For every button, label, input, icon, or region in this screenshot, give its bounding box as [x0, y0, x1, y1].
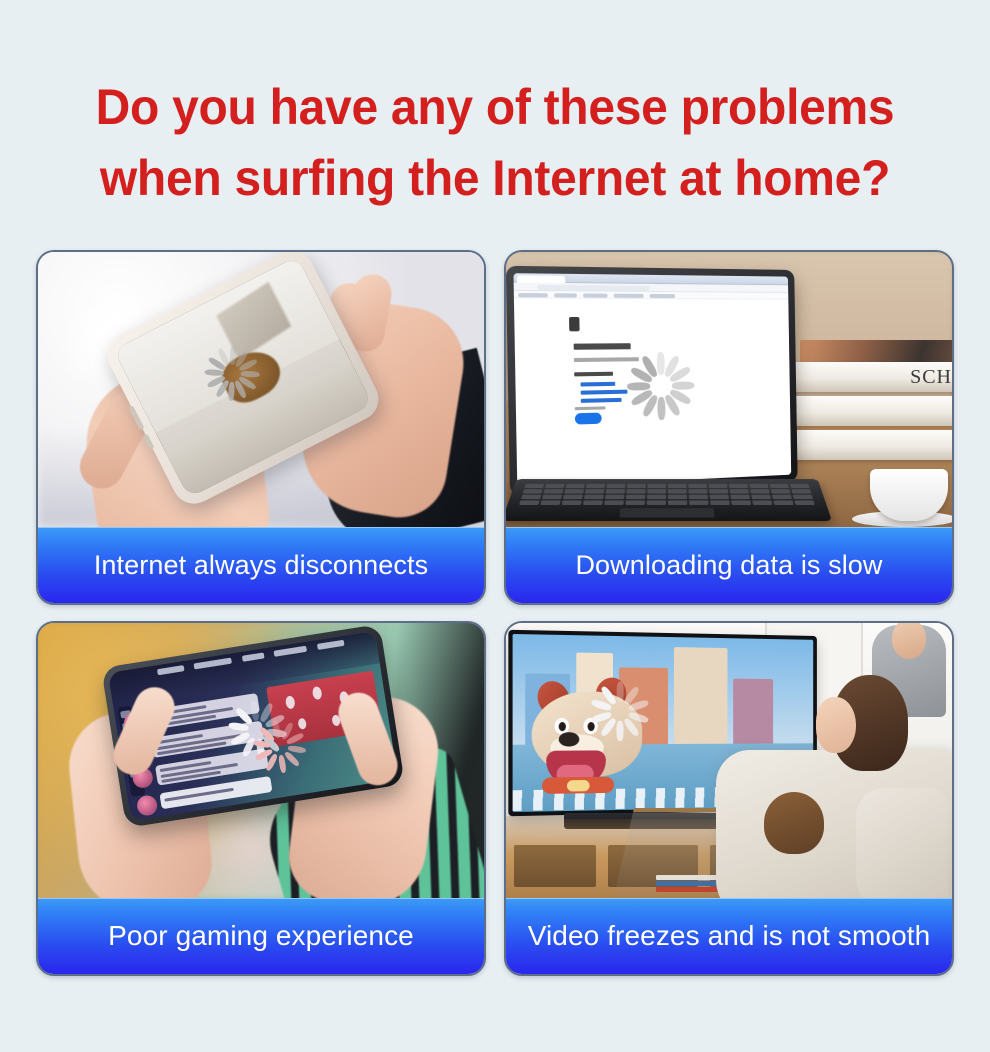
key [710, 495, 730, 499]
key [605, 495, 625, 499]
key [668, 484, 687, 488]
console-shelf [514, 845, 596, 887]
key [709, 489, 728, 493]
key [793, 495, 813, 499]
book-stack [656, 876, 722, 892]
page-link [581, 382, 616, 387]
bookmark-item [518, 292, 548, 296]
key [564, 489, 584, 493]
key [521, 495, 541, 499]
key [606, 489, 625, 493]
keyboard-keys [519, 484, 816, 506]
key [769, 484, 789, 488]
page-title: Do you have any of these problems when s… [20, 72, 970, 214]
card-caption-text: Internet always disconnects [94, 550, 428, 581]
hud-element [194, 658, 232, 670]
book [656, 875, 722, 880]
url-field [537, 284, 650, 290]
page-text-line [574, 372, 613, 377]
key [626, 495, 645, 499]
page-link [581, 398, 622, 403]
key [771, 489, 791, 493]
key [750, 489, 770, 493]
cartoon-building [733, 679, 773, 743]
key [794, 500, 815, 504]
tablet-screen [513, 273, 791, 488]
buffering-spinner-icon [625, 339, 697, 412]
key [585, 489, 604, 493]
key [791, 489, 811, 493]
woman-face [816, 697, 856, 753]
key [772, 495, 792, 499]
child-head [764, 792, 824, 854]
card-photo-living-room-tv [506, 623, 952, 898]
key [586, 484, 605, 488]
card-caption-bar[interactable]: Internet always disconnects [38, 527, 484, 603]
freeze-spinner-wrapper [589, 670, 652, 733]
key [730, 495, 750, 499]
problem-card-slow-download[interactable]: SCH [504, 250, 954, 605]
key [543, 489, 563, 493]
key [689, 500, 709, 504]
page-primary-button [575, 413, 602, 425]
bookmark-item [554, 293, 577, 297]
key [647, 489, 666, 493]
key [545, 484, 565, 488]
key [752, 500, 772, 504]
book [656, 881, 722, 886]
key [565, 484, 584, 488]
card-caption-text: Video freezes and is not smooth [528, 920, 931, 952]
hud-element [242, 652, 264, 661]
key [731, 500, 751, 504]
card-caption-text: Downloading data is slow [575, 550, 882, 581]
bookmark-item [614, 293, 644, 297]
key [647, 500, 666, 504]
hud-element [157, 665, 185, 675]
chat-input-placeholder [164, 788, 234, 802]
promo-page: Do you have any of these problems when s… [0, 0, 990, 1052]
key [668, 489, 687, 493]
browser-tab [517, 275, 566, 283]
chat-avatar [136, 794, 159, 817]
hud-element [317, 640, 345, 650]
key [647, 495, 666, 499]
card-caption-text: Poor gaming experience [108, 920, 414, 952]
key [790, 484, 810, 488]
game-marker [312, 686, 323, 700]
key [688, 489, 707, 493]
hud-element [274, 646, 307, 657]
page-content [514, 298, 791, 488]
page-heading-line [574, 343, 631, 350]
key [773, 500, 793, 504]
page-title-line-1: Do you have any of these problems [20, 72, 970, 143]
sofa-arm [856, 788, 948, 898]
key [583, 500, 603, 504]
key [751, 495, 771, 499]
site-logo [569, 317, 580, 331]
key [519, 500, 540, 504]
cartoon-building [674, 647, 727, 743]
problem-card-poor-gaming[interactable]: Poor gaming experience [36, 621, 486, 976]
key [627, 484, 646, 488]
key [688, 484, 707, 488]
key [668, 500, 687, 504]
buffering-spinner-icon [246, 706, 310, 770]
key [606, 484, 625, 488]
key [730, 489, 749, 493]
lag-spinner-secondary-wrapper [246, 706, 310, 770]
page-text-line [575, 406, 606, 410]
key [562, 500, 582, 504]
key [709, 484, 728, 488]
book-title-text: SCH [910, 366, 952, 389]
card-caption-bar[interactable]: Poor gaming experience [38, 898, 484, 974]
problem-card-grid: Internet always disconnects SCH [36, 250, 954, 976]
tablet [506, 266, 798, 496]
key [563, 495, 583, 499]
key [584, 495, 604, 499]
scene-tablet-on-desk: SCH [506, 252, 952, 527]
buffering-spinner-icon [589, 670, 652, 733]
key [749, 484, 768, 488]
card-caption-bar[interactable]: Video freezes and is not smooth [506, 898, 952, 974]
key [626, 489, 645, 493]
page-title-line-2: when surfing the Internet at home? [20, 143, 970, 214]
key [542, 495, 562, 499]
key [710, 500, 730, 504]
trackpad [619, 508, 714, 517]
key [729, 484, 748, 488]
scene-phone-gaming [38, 623, 484, 898]
page-link [581, 390, 628, 395]
card-photo-tablet-loading: SCH [506, 252, 952, 527]
tablet-keyboard [506, 479, 832, 521]
loading-spinner-wrapper [625, 339, 697, 412]
key [647, 484, 666, 488]
dog-collar-tag [567, 780, 590, 792]
key [625, 500, 645, 504]
key [668, 495, 687, 499]
standing-man-head [892, 623, 926, 659]
bookmark-item [583, 293, 608, 297]
problem-card-internet-disconnects[interactable]: Internet always disconnects [36, 250, 486, 605]
scene-phone-in-hands [38, 252, 484, 527]
key [604, 500, 624, 504]
key [689, 495, 708, 499]
bookmark-item [650, 293, 676, 297]
book [656, 887, 722, 892]
card-photo-phone-buffering [38, 252, 484, 527]
problem-card-video-freezes[interactable]: Video freezes and is not smooth [504, 621, 954, 976]
key [540, 500, 560, 504]
scene-living-room [506, 623, 952, 898]
key [524, 484, 544, 488]
card-photo-mobile-gaming [38, 623, 484, 898]
key [523, 489, 543, 493]
dog-pupil [559, 722, 566, 731]
card-caption-bar[interactable]: Downloading data is slow [506, 527, 952, 603]
